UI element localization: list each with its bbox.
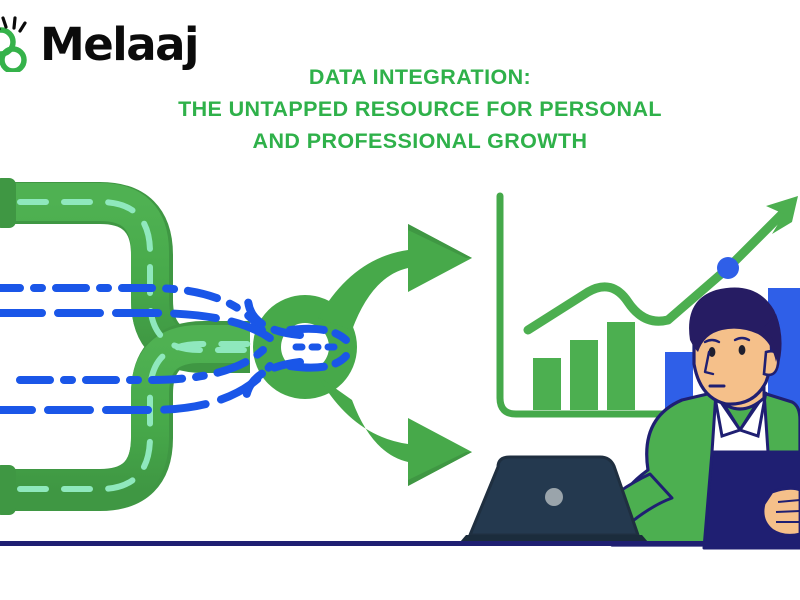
output-arrow-top	[318, 224, 472, 330]
brand-name: Melaaj	[40, 22, 198, 67]
laptop-logo	[545, 488, 563, 506]
pipe-cap-bottom	[0, 465, 16, 515]
laptop-base	[460, 535, 648, 542]
chart-trend-marker	[717, 257, 739, 279]
chart-bar-green-1	[533, 358, 561, 410]
finger-line-2	[776, 511, 800, 512]
melaaj-circles-spark-icon	[0, 16, 36, 72]
eye-right	[739, 345, 746, 355]
chart-bar-green-3	[607, 322, 635, 410]
chart-bar-green-2	[570, 340, 598, 410]
desk-surface-line	[0, 541, 800, 546]
infographic-canvas: Melaaj DATA INTEGRATION: THE UNTAPPED RE…	[0, 0, 800, 600]
title-line-1: DATA INTEGRATION:	[110, 62, 730, 94]
output-arrow-bottom	[318, 376, 472, 486]
title-line-3: AND PROFESSIONAL GROWTH	[110, 126, 730, 158]
pipe-cap-top	[0, 178, 16, 228]
logo-circle-lower	[2, 49, 24, 71]
title-line-2: THE UNTAPPED RESOURCE FOR PERSONAL	[110, 94, 730, 126]
page-title: DATA INTEGRATION: THE UNTAPPED RESOURCE …	[110, 62, 730, 157]
